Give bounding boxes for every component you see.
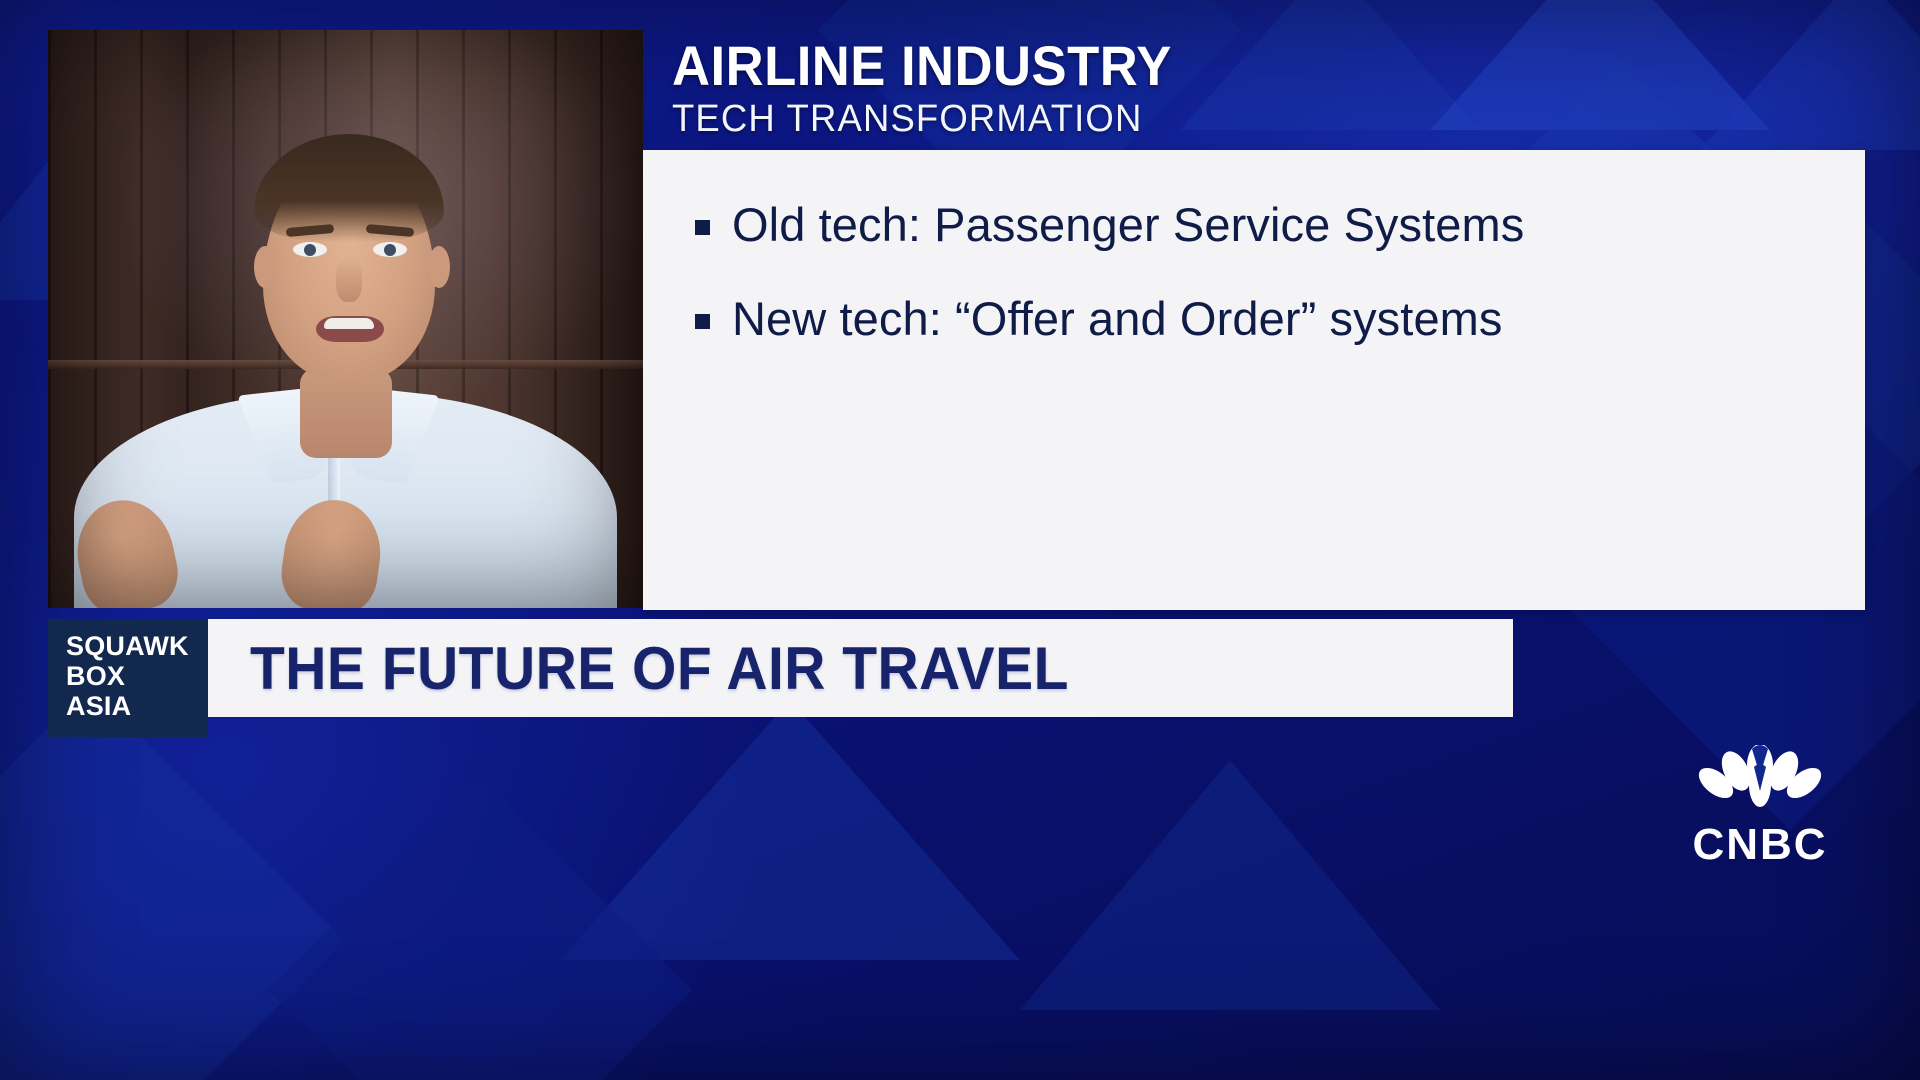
square-bullet-icon: [695, 314, 710, 329]
peacock-icon: [1672, 745, 1848, 811]
eye-right: [373, 242, 407, 257]
square-bullet-icon: [695, 220, 710, 235]
bullet-text: New tech: “Offer and Order” systems: [732, 290, 1503, 348]
topic-header: AIRLINE INDUSTRY TECH TRANSFORMATION: [672, 38, 1862, 140]
video-feed[interactable]: [48, 30, 643, 608]
lower-third-headline: THE FUTURE OF AIR TRAVEL: [250, 634, 1069, 703]
ear-right: [428, 246, 450, 288]
bullet-item: Old tech: Passenger Service Systems: [695, 196, 1813, 254]
bullet-item: New tech: “Offer and Order” systems: [695, 290, 1813, 348]
topic-subtitle: TECH TRANSFORMATION: [672, 100, 1814, 140]
ear-left: [254, 246, 276, 288]
bullet-text: Old tech: Passenger Service Systems: [732, 196, 1524, 254]
topic-title: AIRLINE INDUSTRY: [672, 38, 1791, 94]
program-name-line-2: BOX: [66, 661, 208, 691]
program-name-line-1: SQUAWK: [66, 631, 208, 661]
eye-left: [293, 242, 327, 257]
network-wordmark: CNBC: [1672, 820, 1848, 870]
guest-teeth: [324, 318, 374, 329]
lower-third-banner: THE FUTURE OF AIR TRAVEL: [208, 619, 1513, 717]
network-logo: CNBC: [1672, 745, 1848, 870]
program-badge: SQUAWK BOX ASIA: [48, 619, 208, 737]
guest-nose: [336, 258, 362, 302]
program-name-line-3: ASIA: [66, 691, 208, 721]
bullet-panel: Old tech: Passenger Service Systems New …: [643, 150, 1865, 610]
